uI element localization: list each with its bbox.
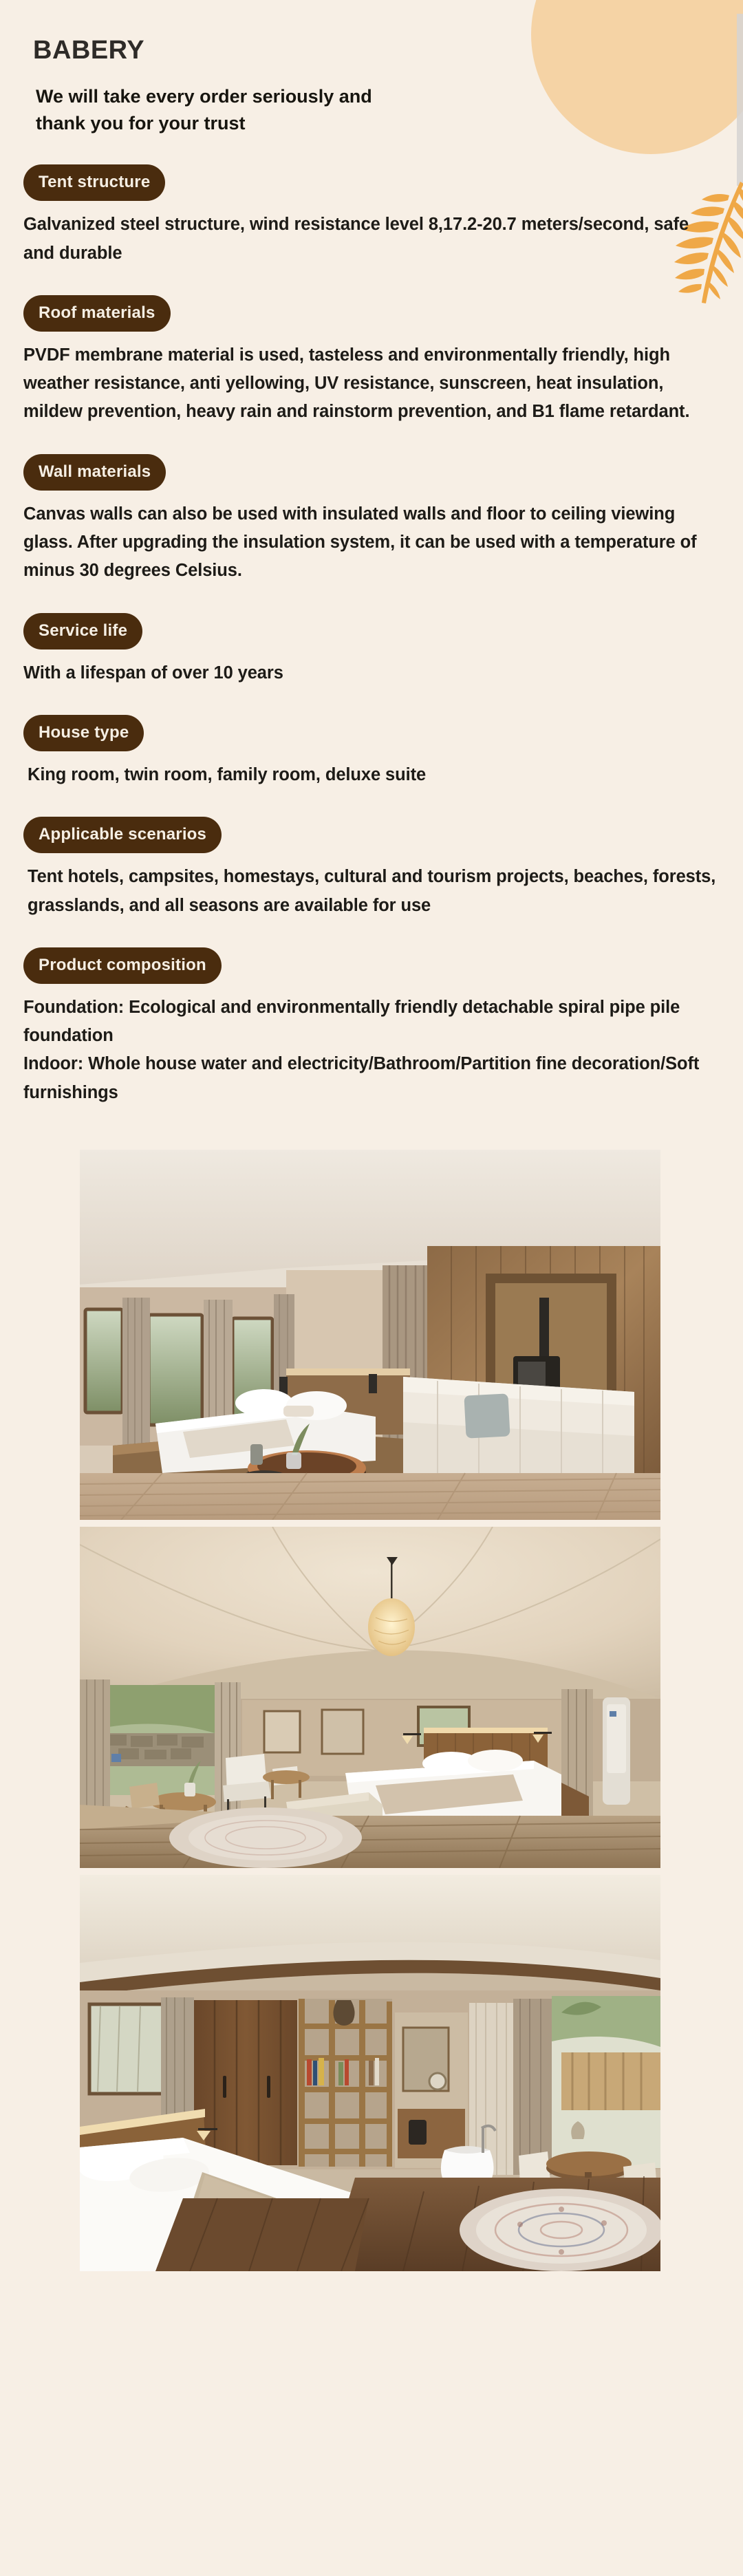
section-house-type: House type King room, twin room, family … [23,715,720,789]
section-badge: House type [23,715,144,751]
section-wall-materials: Wall materials Canvas walls can also be … [23,454,720,586]
product-detail-page: BABERY We will take every order seriousl… [0,0,743,1107]
section-badge: Roof materials [23,295,171,332]
section-badge: Wall materials [23,454,166,491]
paragraph: Indoor: Whole house water and electricit… [23,1050,720,1107]
tagline-line-1: We will take every order seriously and [36,83,519,110]
gallery-photo-3[interactable]: Deluxe tent suite with king bed, timber … [80,1875,660,2271]
section-body: King room, twin room, family room, delux… [23,761,720,789]
tagline-line-2: thank you for your trust [36,110,519,137]
section-tent-structure: Tent structure Galvanized steel structur… [23,164,720,268]
paragraph: Galvanized steel structure, wind resista… [23,211,720,268]
paragraph: PVDF membrane material is used, tasteles… [23,341,720,427]
paragraph: With a lifespan of over 10 years [23,659,720,687]
paragraph: King room, twin room, family room, delux… [28,761,720,789]
gallery-photo-2[interactable]: Canvas-ceilinged tent suite with pendant… [80,1527,660,1868]
product-photo-gallery: Tent suite interior with twin beds on a … [0,1150,743,2271]
tagline: We will take every order seriously and t… [23,83,519,137]
section-badge: Tent structure [23,164,165,201]
section-body: Foundation: Ecological and environmental… [23,994,720,1107]
gallery-photo-1[interactable]: Tent suite interior with twin beds on a … [80,1150,660,1520]
section-body: Tent hotels, campsites, homestays, cultu… [23,863,720,920]
section-body: Canvas walls can also be used with insul… [23,500,720,586]
section-product-composition: Product composition Foundation: Ecologic… [23,947,720,1107]
section-body: PVDF membrane material is used, tasteles… [23,341,720,427]
section-badge: Applicable scenarios [23,817,222,853]
section-badge: Service life [23,613,142,650]
paragraph: Canvas walls can also be used with insul… [23,500,720,586]
section-badge: Product composition [23,947,222,984]
section-body: With a lifespan of over 10 years [23,659,720,687]
paragraph: Tent hotels, campsites, homestays, cultu… [28,863,720,920]
section-roof-materials: Roof materials PVDF membrane material is… [23,295,720,427]
section-applicable-scenarios: Applicable scenarios Tent hotels, campsi… [23,817,720,920]
section-body: Galvanized steel structure, wind resista… [23,211,720,268]
paragraph: Foundation: Ecological and environmental… [23,994,720,1051]
section-service-life: Service life With a lifespan of over 10 … [23,613,720,687]
brand-title: BABERY [23,0,720,65]
